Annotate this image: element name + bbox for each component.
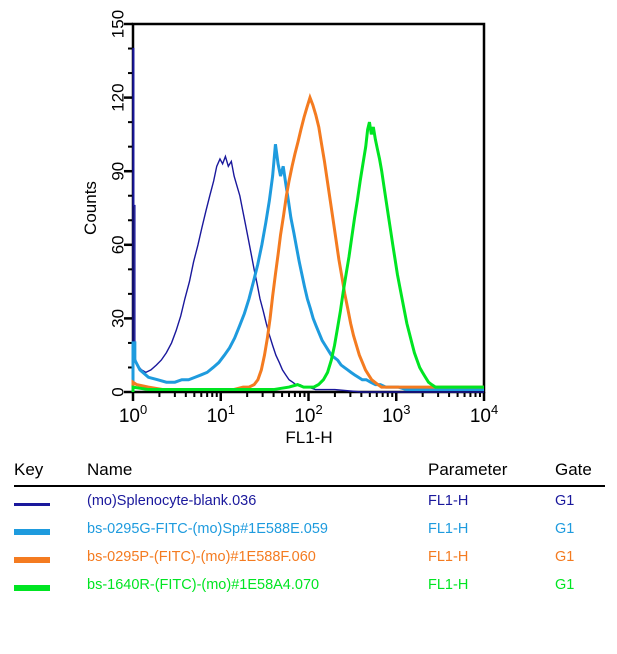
x-tick-label: 102	[294, 402, 322, 427]
y-axis-title: Counts	[81, 181, 100, 235]
y-axis-ticks	[124, 24, 133, 392]
legend-color-swatch	[14, 557, 50, 563]
y-tick-label: 30	[108, 309, 127, 328]
legend-color-swatch	[14, 503, 50, 506]
x-tick-label: 101	[207, 402, 235, 427]
histogram-traces	[133, 49, 484, 392]
legend-row: (mo)Splenocyte-blank.036FL1-HG1	[14, 486, 605, 515]
plot-frame	[133, 24, 484, 392]
y-tick-label: 120	[108, 83, 127, 111]
y-tick-label: 60	[108, 235, 127, 254]
legend-key-cell	[14, 486, 87, 515]
histogram-trace	[133, 144, 484, 392]
legend-row: bs-0295G-FITC-(mo)Sp#1E588E.059FL1-HG1	[14, 515, 605, 543]
x-axis-tick-labels: 100101102103104	[119, 402, 498, 427]
histogram-trace	[133, 122, 484, 392]
legend-header-row: Key Name Parameter Gate	[14, 460, 605, 486]
legend-gate-cell: G1	[555, 486, 605, 515]
legend-header-parameter: Parameter	[428, 460, 555, 486]
legend-parameter-cell: FL1-H	[428, 486, 555, 515]
x-tick-label: 100	[119, 402, 147, 427]
legend-parameter-cell: FL1-H	[428, 571, 555, 599]
x-axis-ticks	[133, 392, 484, 401]
legend-color-swatch	[14, 529, 50, 535]
legend-gate-cell: G1	[555, 515, 605, 543]
legend-parameter-cell: FL1-H	[428, 543, 555, 571]
flow-cytometry-histogram: 0306090120150 100101102103104 Counts FL1…	[0, 0, 617, 460]
legend-parameter-cell: FL1-H	[428, 515, 555, 543]
x-axis-title: FL1-H	[285, 428, 332, 447]
y-tick-label: 150	[108, 10, 127, 38]
legend-key-cell	[14, 571, 87, 599]
legend-body: (mo)Splenocyte-blank.036FL1-HG1bs-0295G-…	[14, 486, 605, 599]
y-tick-label: 90	[108, 162, 127, 181]
legend-header-key: Key	[14, 460, 87, 486]
legend-color-swatch	[14, 585, 50, 591]
y-tick-label: 0	[108, 387, 127, 396]
legend-gate-cell: G1	[555, 543, 605, 571]
legend-key-cell	[14, 515, 87, 543]
x-tick-label: 103	[382, 402, 410, 427]
legend-row: bs-1640R-(FITC)-(mo)#1E58A4.070FL1-HG1	[14, 571, 605, 599]
legend-header-name: Name	[87, 460, 428, 486]
x-tick-label: 104	[470, 402, 498, 427]
legend-header-gate: Gate	[555, 460, 605, 486]
histogram-trace	[133, 98, 484, 392]
legend-name-cell: bs-0295G-FITC-(mo)Sp#1E588E.059	[87, 515, 428, 543]
y-axis-tick-labels: 0306090120150	[108, 10, 127, 397]
legend-table-region: Key Name Parameter Gate (mo)Splenocyte-b…	[0, 460, 617, 654]
legend-key-cell	[14, 543, 87, 571]
legend-name-cell: bs-0295P-(FITC)-(mo)#1E588F.060	[87, 543, 428, 571]
legend-name-cell: (mo)Splenocyte-blank.036	[87, 486, 428, 515]
legend-row: bs-0295P-(FITC)-(mo)#1E588F.060FL1-HG1	[14, 543, 605, 571]
legend-name-cell: bs-1640R-(FITC)-(mo)#1E58A4.070	[87, 571, 428, 599]
legend-table: Key Name Parameter Gate (mo)Splenocyte-b…	[14, 460, 605, 599]
legend-gate-cell: G1	[555, 571, 605, 599]
histogram-plot: 0306090120150 100101102103104 Counts FL1…	[0, 0, 617, 460]
